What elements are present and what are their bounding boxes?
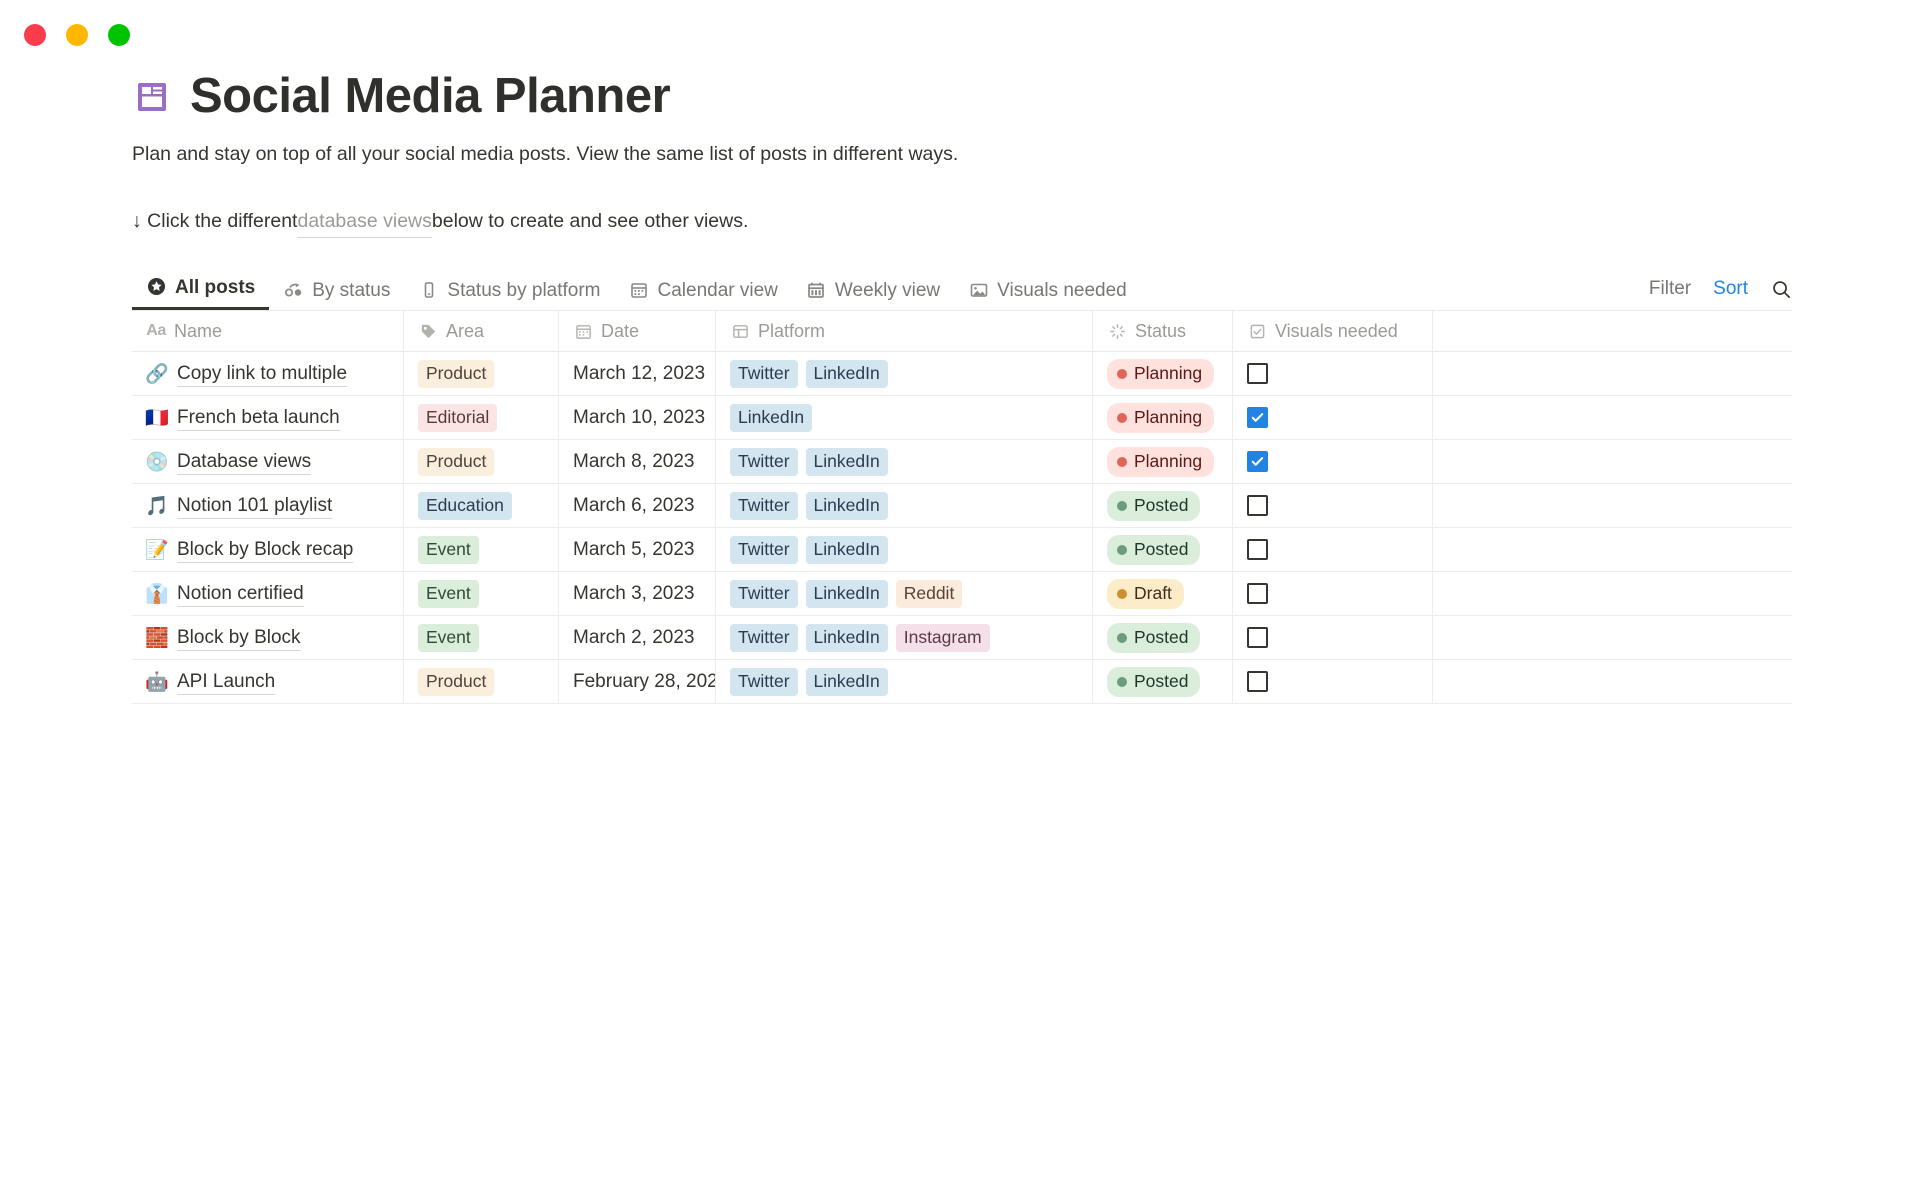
date-value: March 5, 2023 [573,539,694,561]
table-row[interactable]: 👔Notion certifiedEventMarch 3, 2023Twitt… [132,572,1792,616]
cell-platform[interactable]: TwitterLinkedInReddit [716,572,1093,615]
cell-area[interactable]: Product [404,440,559,483]
cell-name[interactable]: 🤖API Launch [132,660,404,703]
status-badge: Posted [1107,491,1200,521]
platform-tag: LinkedIn [806,448,888,476]
date-value: March 6, 2023 [573,495,694,517]
cell-area[interactable]: Product [404,352,559,395]
row-emoji-icon: 📝 [146,538,168,562]
post-title-link[interactable]: API Launch [177,669,275,696]
page-icon [132,77,172,117]
cell-status[interactable]: Posted [1093,616,1233,659]
tab-all-posts[interactable]: All posts [132,267,269,310]
cell-visuals-needed[interactable] [1233,440,1433,483]
platform-tag: Twitter [730,580,798,608]
star-circle-icon [146,276,167,297]
status-label: Planning [1134,406,1202,430]
table-row[interactable]: 📝Block by Block recapEventMarch 5, 2023T… [132,528,1792,572]
cell-visuals-needed[interactable] [1233,352,1433,395]
date-value: March 10, 2023 [573,407,705,429]
status-spinner-icon [1107,321,1127,341]
tab-visuals-needed[interactable]: Visuals needed [954,267,1141,310]
date-value: March 3, 2023 [573,583,694,605]
cell-status[interactable]: Planning [1093,396,1233,439]
cell-platform[interactable]: TwitterLinkedInInstagram [716,616,1093,659]
cell-status[interactable]: Draft [1093,572,1233,615]
column-header-visuals-needed[interactable]: Visuals needed [1233,311,1433,351]
cell-date[interactable]: March 2, 2023 [559,616,716,659]
post-title-link[interactable]: Block by Block recap [177,537,353,564]
status-label: Posted [1134,670,1188,694]
status-badge: Planning [1107,403,1214,433]
visuals-needed-checkbox[interactable] [1247,495,1268,516]
cell-platform[interactable]: TwitterLinkedIn [716,528,1093,571]
cell-area[interactable]: Event [404,616,559,659]
post-title-link[interactable]: Block by Block [177,625,301,652]
date-value: February 28, 2023 [573,671,716,693]
column-header-name[interactable]: Aa Name [132,311,404,351]
area-tag: Event [418,624,479,652]
tab-label: By status [312,281,390,300]
cell-blank [1433,484,1792,527]
cell-name[interactable]: 🎵Notion 101 playlist [132,484,404,527]
cell-status[interactable]: Posted [1093,528,1233,571]
filter-button[interactable]: Filter [1649,278,1691,300]
area-tag: Product [418,668,494,696]
maximize-window-button[interactable] [108,24,130,46]
cell-blank [1433,440,1792,483]
table-header-row: Aa Name Area [132,311,1792,352]
cell-platform[interactable]: TwitterLinkedIn [716,352,1093,395]
row-emoji-icon: 🔗 [146,362,168,386]
cell-blank [1433,660,1792,703]
column-header-area[interactable]: Area [404,311,559,351]
cell-status[interactable]: Posted [1093,660,1233,703]
platform-tag: Reddit [896,580,963,608]
table-row[interactable]: 🔗Copy link to multipleProductMarch 12, 2… [132,352,1792,396]
close-window-button[interactable] [24,24,46,46]
table-row[interactable]: 🧱Block by BlockEventMarch 2, 2023Twitter… [132,616,1792,660]
column-label: Platform [758,321,825,342]
cell-date[interactable]: March 3, 2023 [559,572,716,615]
status-badge: Posted [1107,667,1200,697]
status-dot-icon [1117,413,1127,423]
platform-tag: Twitter [730,492,798,520]
cell-name[interactable]: 🔗Copy link to multiple [132,352,404,395]
row-emoji-icon: 🎵 [146,494,168,518]
column-label: Area [446,321,484,342]
cell-date[interactable]: March 12, 2023 [559,352,716,395]
column-header-platform[interactable]: Platform [716,311,1093,351]
cell-visuals-needed[interactable] [1233,396,1433,439]
cell-name[interactable]: 🇫🇷French beta launch [132,396,404,439]
platform-tag: LinkedIn [806,360,888,388]
tab-label: Weekly view [835,281,940,300]
status-dot-icon [1117,677,1127,687]
cell-blank [1433,572,1792,615]
view-tabs: All posts By status [132,267,1141,310]
row-emoji-icon: 🇫🇷 [146,406,168,430]
search-icon[interactable] [1770,278,1792,300]
page-content: Social Media Planner Plan and stay on to… [132,70,1832,704]
image-icon [968,279,989,300]
cell-area[interactable]: Product [404,660,559,703]
table-row[interactable]: 🎵Notion 101 playlistEducationMarch 6, 20… [132,484,1792,528]
hint-prefix: ↓ Click the different [132,207,297,236]
status-badge: Posted [1107,623,1200,653]
multiselect-icon [730,321,750,341]
date-value: March 8, 2023 [573,451,694,473]
area-tag: Event [418,536,479,564]
cell-name[interactable]: 👔Notion certified [132,572,404,615]
status-dot-icon [1117,633,1127,643]
cell-blank [1433,528,1792,571]
area-tag: Event [418,580,479,608]
area-tag: Editorial [418,404,497,432]
row-emoji-icon: 🧱 [146,626,168,650]
post-title-link[interactable]: Notion 101 playlist [177,493,332,520]
cell-area[interactable]: Event [404,528,559,571]
cell-visuals-needed[interactable] [1233,572,1433,615]
status-badge: Posted [1107,535,1200,565]
date-value: March 12, 2023 [573,363,705,385]
status-dot-icon [1117,369,1127,379]
tab-weekly-view[interactable]: Weekly view [792,267,954,310]
cell-area[interactable]: Editorial [404,396,559,439]
database-icon [134,79,170,115]
status-dot-icon [1117,589,1127,599]
visuals-needed-checkbox[interactable] [1247,407,1268,428]
status-dot-icon [1117,457,1127,467]
status-label: Posted [1134,538,1188,562]
cell-name[interactable]: 💿Database views [132,440,404,483]
cell-area[interactable]: Event [404,572,559,615]
visuals-needed-checkbox[interactable] [1247,451,1268,472]
cell-name[interactable]: 🧱Block by Block [132,616,404,659]
visuals-needed-checkbox[interactable] [1247,671,1268,692]
posts-table: Aa Name Area [132,311,1792,704]
visuals-needed-checkbox[interactable] [1247,627,1268,648]
database-views-link[interactable]: database views [297,207,431,238]
column-label: Date [601,321,639,342]
column-label: Name [174,321,222,342]
area-tag: Education [418,492,512,520]
cell-platform[interactable]: TwitterLinkedIn [716,440,1093,483]
cell-status[interactable]: Planning [1093,440,1233,483]
status-label: Posted [1134,626,1188,650]
view-toolbar: All posts By status [132,267,1792,311]
status-dot-icon [1117,545,1127,555]
platform-tag: LinkedIn [806,492,888,520]
platform-tag: LinkedIn [806,536,888,564]
cell-status[interactable]: Planning [1093,352,1233,395]
cell-area[interactable]: Education [404,484,559,527]
table-row[interactable]: 💿Database viewsProductMarch 8, 2023Twitt… [132,440,1792,484]
cell-visuals-needed[interactable] [1233,484,1433,527]
sort-button[interactable]: Sort [1713,278,1748,300]
post-title-link[interactable]: Copy link to multiple [177,361,347,388]
cell-platform[interactable]: LinkedIn [716,396,1093,439]
visuals-needed-checkbox[interactable] [1247,363,1268,384]
checkbox-icon [1247,321,1267,341]
text-aa-icon: Aa [146,321,166,341]
column-label: Status [1135,321,1186,342]
visuals-needed-checkbox[interactable] [1247,583,1268,604]
tag-icon [418,321,438,341]
board-icon [283,279,304,300]
platform-tag: LinkedIn [806,580,888,608]
cell-date[interactable]: March 5, 2023 [559,528,716,571]
calendar-icon [573,321,593,341]
row-emoji-icon: 🤖 [146,670,168,694]
cell-platform[interactable]: TwitterLinkedIn [716,484,1093,527]
minimize-window-button[interactable] [66,24,88,46]
cell-blank [1433,616,1792,659]
table-body: 🔗Copy link to multipleProductMarch 12, 2… [132,352,1792,704]
page-title: Social Media Planner [190,70,670,124]
row-emoji-icon: 👔 [146,582,168,606]
platform-tag: Twitter [730,536,798,564]
window-controls [24,24,130,46]
platform-tag: Twitter [730,624,798,652]
cell-visuals-needed[interactable] [1233,660,1433,703]
hint-suffix: below to create and see other views. [432,207,749,236]
status-label: Planning [1134,362,1202,386]
column-header-date[interactable]: Date [559,311,716,351]
page-description: Plan and stay on top of all your social … [132,140,1832,169]
post-title-link[interactable]: Notion certified [177,581,304,608]
table-row[interactable]: 🇫🇷French beta launchEditorialMarch 10, 2… [132,396,1792,440]
platform-tag: Twitter [730,360,798,388]
status-dot-icon [1117,501,1127,511]
view-toolbar-actions: Filter Sort [1649,278,1792,310]
post-title-link[interactable]: Database views [177,449,311,476]
platform-tag: Twitter [730,668,798,696]
column-header-add[interactable] [1433,311,1792,351]
tab-label: Visuals needed [997,281,1127,300]
cell-date[interactable]: February 28, 2023 [559,660,716,703]
row-emoji-icon: 💿 [146,450,168,474]
platform-tag: LinkedIn [806,668,888,696]
visuals-needed-checkbox[interactable] [1247,539,1268,560]
cell-visuals-needed[interactable] [1233,528,1433,571]
cell-platform[interactable]: TwitterLinkedIn [716,660,1093,703]
cell-date[interactable]: March 10, 2023 [559,396,716,439]
post-title-link[interactable]: French beta launch [177,405,340,432]
table-row[interactable]: 🤖API LaunchProductFebruary 28, 2023Twitt… [132,660,1792,704]
cell-date[interactable]: March 6, 2023 [559,484,716,527]
area-tag: Product [418,360,494,388]
status-badge: Draft [1107,579,1184,609]
tab-label: Status by platform [447,281,600,300]
tab-by-status[interactable]: By status [269,267,404,310]
platform-tag: LinkedIn [806,624,888,652]
page-hint: ↓ Click the different database views bel… [132,207,1832,238]
cell-visuals-needed[interactable] [1233,616,1433,659]
platform-tag: Instagram [896,624,990,652]
cell-date[interactable]: March 8, 2023 [559,440,716,483]
tab-calendar-view[interactable]: Calendar view [615,267,792,310]
date-value: March 2, 2023 [573,627,694,649]
tab-label: All posts [175,278,255,297]
status-label: Posted [1134,494,1188,518]
page-header: Social Media Planner [132,70,1832,124]
calendar-icon [629,279,650,300]
status-badge: Planning [1107,447,1214,477]
tab-status-by-platform[interactable]: Status by platform [404,267,614,310]
mobile-icon [418,279,439,300]
weekly-calendar-icon [806,279,827,300]
cell-blank [1433,352,1792,395]
platform-tag: LinkedIn [730,404,812,432]
platform-tag: Twitter [730,448,798,476]
cell-name[interactable]: 📝Block by Block recap [132,528,404,571]
cell-status[interactable]: Posted [1093,484,1233,527]
status-label: Draft [1134,582,1172,606]
column-header-status[interactable]: Status [1093,311,1233,351]
tab-label: Calendar view [658,281,778,300]
status-badge: Planning [1107,359,1214,389]
area-tag: Product [418,448,494,476]
column-label: Visuals needed [1275,321,1398,342]
cell-blank [1433,396,1792,439]
status-label: Planning [1134,450,1202,474]
